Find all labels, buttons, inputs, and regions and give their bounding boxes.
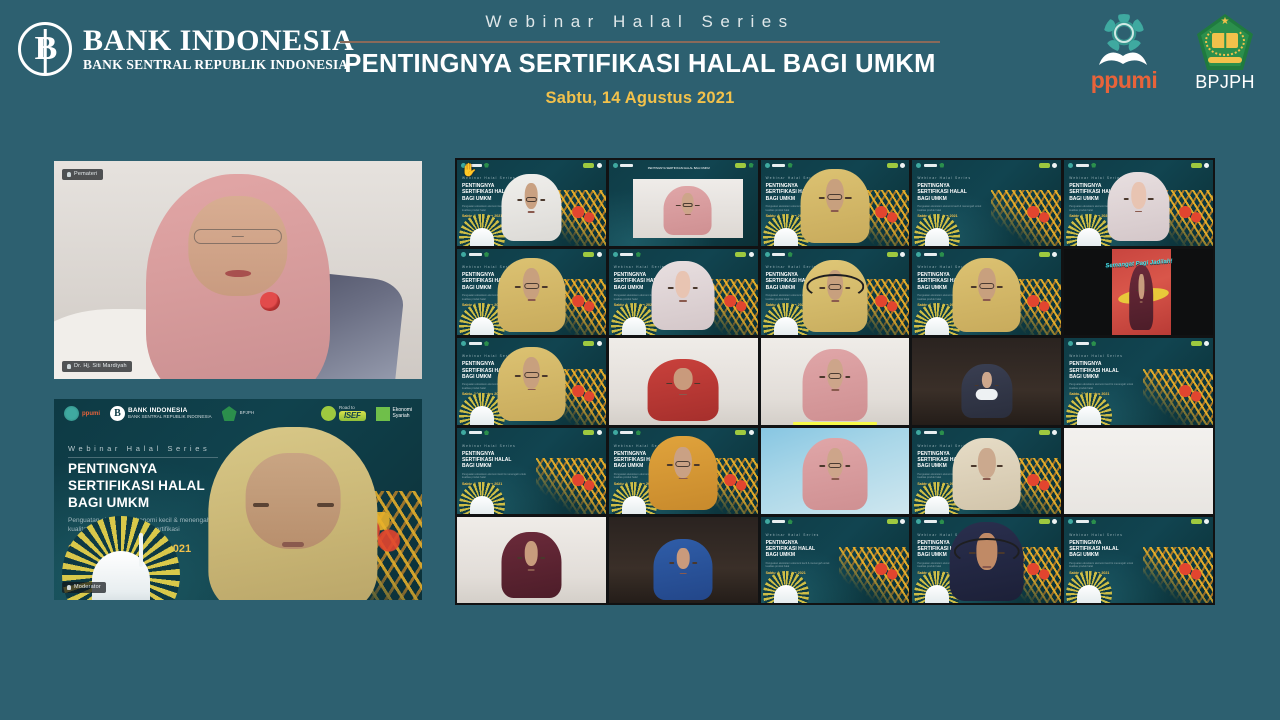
participant-tile-24[interactable]: Webinar Halal Series PENTINGNYA SERTIFIK…	[912, 517, 1061, 603]
main-speaker-frame	[48, 155, 428, 385]
bpjph-label: BPJPH	[1195, 73, 1255, 91]
ornament-accent-graphic	[873, 559, 899, 583]
ornament-accent-graphic	[570, 470, 596, 494]
participant-tile-3[interactable]: Webinar Halal Series PENTINGNYA SERTIFIK…	[761, 160, 910, 246]
ornament-accent-graphic	[570, 381, 596, 405]
raised-hand-icon: ✋	[461, 163, 477, 176]
vb-title: PENTINGNYA SERTIFIKASI HALAL BAGI UMKM	[766, 540, 828, 559]
vb-logo-row	[613, 252, 754, 257]
vb-title: PENTINGNYA SERTIFIKASI HALAL BAGI UMKM	[1069, 361, 1131, 380]
participant-figure	[497, 347, 565, 421]
headset-icon	[954, 538, 1019, 565]
ppumi-logo: ppumi	[1080, 14, 1168, 92]
glasses-icon	[683, 203, 693, 207]
ornament-accent-graphic	[1177, 559, 1203, 583]
vb-logo-row	[916, 430, 1057, 435]
participant-tile-25[interactable]: Webinar Halal Series PENTINGNYA SERTIFIK…	[1064, 517, 1213, 603]
participant-tile-2[interactable]: PENTINGNYA SERTIFIKASI HALAL BAGI UMKM	[609, 160, 758, 246]
participant-figure	[953, 438, 1021, 510]
ornament-accent-graphic	[1025, 470, 1051, 494]
vb-logo-row	[613, 430, 754, 435]
vb-title: PENTINGNYA SERTIFIKASI HALAL BAGI UMKM	[462, 451, 524, 470]
participant-figure	[802, 349, 867, 421]
participant-figure	[1107, 172, 1170, 241]
ornament-accent-graphic	[722, 470, 748, 494]
vb-logo-row	[1068, 341, 1209, 346]
headset-icon	[806, 274, 864, 299]
participant-figure	[950, 522, 1024, 601]
participant-figure	[802, 260, 867, 332]
participant-grid[interactable]: Webinar Halal Series PENTINGNYA SERTIFIK…	[455, 158, 1215, 605]
ornament-accent-graphic	[1025, 559, 1051, 583]
ornament-accent-graphic	[570, 291, 596, 315]
participant-tile-16[interactable]: Webinar Halal Series PENTINGNYA SERTIFIK…	[457, 428, 606, 514]
main-speaker-tile[interactable]: Pemateri Dr. Hj. Siti Mardiyah	[48, 155, 428, 385]
participant-figure	[953, 258, 1021, 332]
vb-logo-row	[765, 252, 906, 257]
header-banner: B BANK INDONESIA BANK SENTRAL REPUBLIK I…	[0, 0, 1280, 140]
page-title: PENTINGNYA SERTIFIKASI HALAL BAGI UMKM	[340, 50, 940, 79]
ppumi-label: ppumi	[1091, 69, 1158, 92]
participant-tile-10[interactable]: Semangat Pagi Jadilah!	[1064, 249, 1213, 335]
participant-tile-23[interactable]: Webinar Halal Series PENTINGNYA SERTIFIK…	[761, 517, 910, 603]
speaking-indicator	[793, 422, 876, 425]
vb-title: PENTINGNYA SERTIFIKASI HALAL BAGI UMKM	[917, 183, 979, 202]
glasses-icon	[524, 372, 539, 378]
participant-tile-17[interactable]: Webinar Halal Series PENTINGNYA SERTIFIK…	[609, 428, 758, 514]
empty-wall-background	[1064, 428, 1213, 514]
vb-logo-row	[765, 519, 906, 524]
participant-tile-19[interactable]: Webinar Halal Series PENTINGNYA SERTIFIK…	[912, 428, 1061, 514]
ornament-accent-graphic	[570, 202, 596, 226]
title-block: Webinar Halal Series PENTINGNYA SERTIFIK…	[340, 12, 940, 108]
participant-tile-22[interactable]	[609, 517, 758, 603]
webinar-screen: B BANK INDONESIA BANK SENTRAL REPUBLIK I…	[0, 0, 1280, 720]
vb-logo-row	[461, 341, 602, 346]
vb-logo-row	[765, 163, 906, 168]
participant-figure	[653, 539, 713, 599]
participant-figure	[801, 169, 869, 243]
ornament-accent-graphic	[1177, 381, 1203, 405]
bank-indonesia-mark-icon: B	[18, 22, 72, 76]
ppumi-hands-icon	[1097, 47, 1151, 67]
participant-tile-6[interactable]: Webinar Halal Series PENTINGNYA SERTIFIK…	[457, 249, 606, 335]
participant-tile-15[interactable]: Webinar Halal Series PENTINGNYA SERTIFIK…	[1064, 338, 1213, 424]
vb-logo-row	[916, 252, 1057, 257]
participant-figure	[497, 258, 565, 332]
participant-figure	[649, 436, 717, 510]
participant-figure	[663, 186, 711, 235]
participant-figure	[647, 359, 718, 421]
glasses-icon	[676, 461, 691, 467]
participant-tile-5[interactable]: Webinar Halal Series PENTINGNYA SERTIFIK…	[1064, 160, 1213, 246]
participant-figure	[502, 174, 562, 241]
vb-series-label: Webinar Halal Series	[766, 533, 820, 537]
glasses-icon	[526, 197, 537, 202]
participant-tile-9[interactable]: Webinar Halal Series PENTINGNYA SERTIFIK…	[912, 249, 1061, 335]
ornament-accent-graphic	[1177, 202, 1203, 226]
vb-logo-row	[461, 163, 602, 168]
glasses-icon	[524, 283, 539, 289]
participant-tile-14[interactable]	[912, 338, 1061, 424]
participant-tile-4[interactable]: Webinar Halal Series PENTINGNYA SERTIFIK…	[912, 160, 1061, 246]
vb-subtitle: Penguatan ekosistem ekonomi kecil & mene…	[766, 562, 832, 569]
ornament-accent-graphic	[873, 202, 899, 226]
vb-logo-row	[1068, 163, 1209, 168]
event-date: Sabtu, 14 Agustus 2021	[340, 89, 940, 108]
bpjph-logo: ★ BPJPH	[1186, 14, 1264, 91]
vb-subtitle: Penguatan ekosistem ekonomi kecil & mene…	[1069, 562, 1135, 569]
glasses-icon	[828, 463, 842, 469]
participant-tile-1[interactable]: Webinar Halal Series PENTINGNYA SERTIFIK…	[457, 160, 606, 246]
participant-figure	[802, 438, 867, 510]
vb-series-label: Webinar Halal Series	[917, 176, 971, 180]
vb-subtitle: Penguatan ekosistem ekonomi kecil & mene…	[1069, 383, 1135, 390]
glasses-icon	[827, 194, 842, 200]
vb-logo-row	[916, 163, 1057, 168]
participant-tile-12[interactable]	[609, 338, 758, 424]
bank-indonesia-name: BANK INDONESIA	[83, 25, 354, 57]
bpjph-shield-icon: ★	[1197, 14, 1253, 70]
ornament-accent-graphic	[1025, 291, 1051, 315]
participant-tile-13[interactable]	[761, 338, 910, 424]
participant-tile-20[interactable]	[1064, 428, 1213, 514]
left-video-column: Pemateri Dr. Hj. Siti Mardiyah ppumi	[48, 155, 428, 606]
vb-subtitle: Penguatan ekosistem ekonomi kecil & mene…	[917, 205, 983, 212]
ornament-accent-graphic	[722, 291, 748, 315]
vb-logo-row	[461, 430, 602, 435]
participant-figure	[1130, 265, 1154, 331]
participant-figure	[652, 261, 714, 330]
presenter-slide-tile[interactable]: ppumi BANK INDONESIA BANK SENTRAL REPUBL…	[48, 393, 428, 606]
participant-tile-8[interactable]: Webinar Halal Series PENTINGNYA SERTIFIK…	[761, 249, 910, 335]
vb-series-label: Webinar Halal Series	[462, 444, 516, 448]
participant-tile-21[interactable]	[457, 517, 606, 603]
partner-logos: ppumi ★ BPJPH	[1080, 14, 1264, 92]
vb-title: PENTINGNYA SERTIFIKASI HALAL BAGI UMKM	[1069, 540, 1131, 559]
ornament-accent-graphic	[1025, 202, 1051, 226]
bank-indonesia-subtitle: BANK SENTRAL REPUBLIK INDONESIA	[83, 57, 354, 73]
shared-slide-title: PENTINGNYA SERTIFIKASI HALAL BAGI UMKM	[633, 166, 725, 170]
participant-tile-18[interactable]	[761, 428, 910, 514]
participant-tile-11[interactable]: Webinar Halal Series PENTINGNYA SERTIFIK…	[457, 338, 606, 424]
vb-series-label: Webinar Halal Series	[1069, 533, 1123, 537]
participant-figure	[502, 532, 562, 598]
series-label: Webinar Halal Series	[340, 12, 940, 32]
bank-indonesia-logo: B BANK INDONESIA BANK SENTRAL REPUBLIK I…	[18, 22, 354, 76]
ppumi-flower-icon	[1093, 14, 1155, 68]
vb-logo-row	[461, 252, 602, 257]
vb-series-label: Webinar Halal Series	[1069, 354, 1123, 358]
glasses-icon	[979, 283, 994, 289]
participant-tile-7[interactable]: Webinar Halal Series PENTINGNYA SERTIFIK…	[609, 249, 758, 335]
vb-logo-row	[1068, 519, 1209, 524]
glasses-icon	[828, 373, 842, 379]
presenter-slide-frame	[48, 393, 428, 606]
title-divider	[340, 41, 940, 43]
participant-figure	[961, 364, 1012, 417]
face-mask-icon	[976, 389, 998, 400]
vb-subtitle: Penguatan ekosistem ekonomi kecil & mene…	[462, 473, 528, 480]
ornament-accent-graphic	[873, 291, 899, 315]
